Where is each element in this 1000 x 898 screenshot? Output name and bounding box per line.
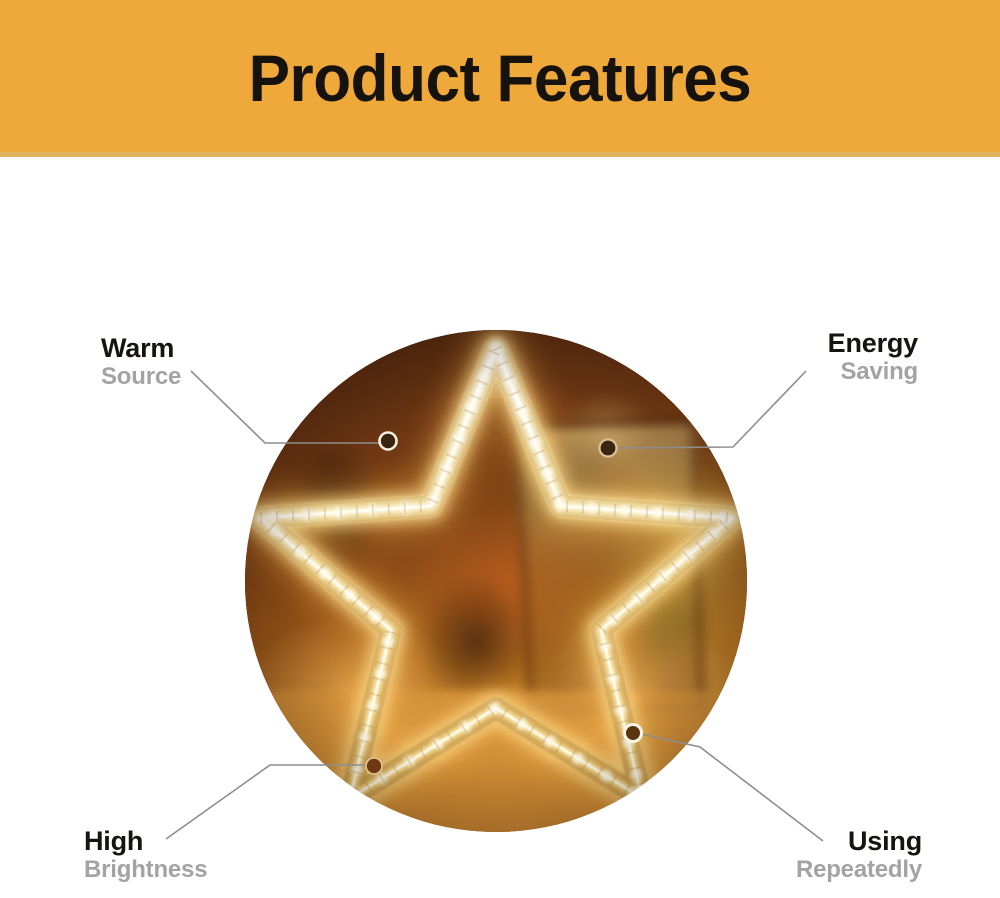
callout-title-high: High — [84, 826, 207, 856]
callout-title-using: Using — [796, 826, 922, 856]
product-photo-circle — [245, 330, 747, 832]
callout-subtitle-source: Source — [101, 363, 181, 391]
photo-vignette — [245, 330, 747, 832]
callout-warm-source: Warm Source — [101, 333, 181, 391]
callout-title-energy: Energy — [828, 328, 918, 358]
photo-stage — [0, 157, 1000, 898]
callout-energy-saving: Energy Saving — [828, 328, 918, 386]
callout-subtitle-repeatedly: Repeatedly — [796, 856, 922, 884]
callout-subtitle-brightness: Brightness — [84, 856, 207, 884]
callout-using-repeatedly: Using Repeatedly — [796, 826, 922, 884]
page-title: Product Features — [30, 43, 970, 113]
callout-high-brightness: High Brightness — [84, 826, 207, 884]
callout-subtitle-saving: Saving — [828, 358, 918, 386]
callout-title-warm: Warm — [101, 333, 181, 363]
